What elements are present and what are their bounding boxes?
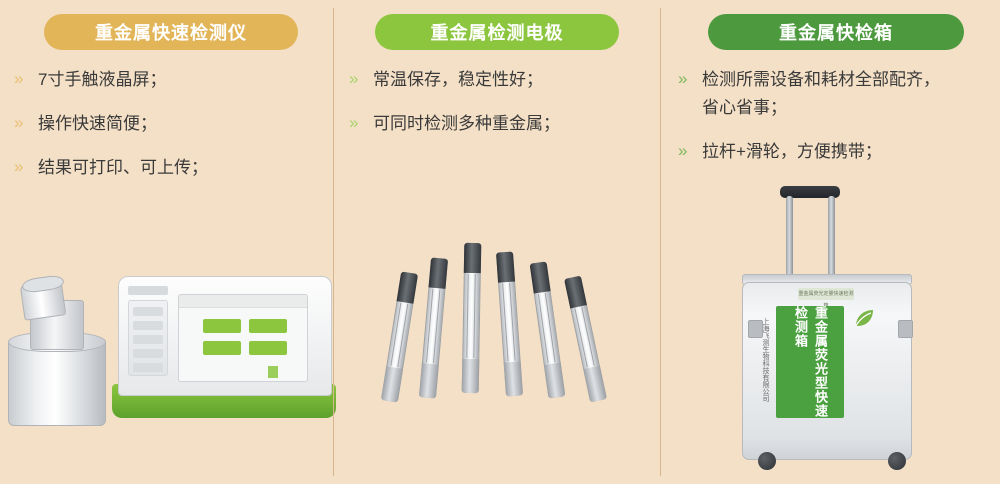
case-handle-bar-left: [786, 196, 793, 286]
chevron-right-icon: »: [349, 110, 367, 136]
panel-case-bullets: » 检测所需设备和耗材全部配齐，省心省事； » 拉杆+滑轮，方便携带；: [660, 66, 1000, 182]
panel-electrode-bullets: » 常温保存，稳定性好； » 可同时检测多种重金属；: [333, 66, 660, 154]
panel-electrode-title: 重金属检测电极: [375, 14, 619, 50]
list-item: » 可同时检测多种重金属；: [349, 110, 660, 138]
chevron-right-icon: »: [14, 110, 32, 136]
chevron-right-icon: »: [14, 154, 32, 180]
list-item: » 检测所需设备和耗材全部配齐，省心省事；: [678, 66, 1000, 122]
list-item: » 7寸手触液晶屏；: [14, 66, 333, 94]
product-feature-board: 重金属快速检测仪 » 7寸手触液晶屏； » 操作快速简便； » 结果可打印、可上…: [0, 0, 1000, 484]
electrode-strip: [564, 276, 607, 403]
bullet-text: 拉杆+滑轮，方便携带；: [702, 138, 882, 166]
chevron-right-icon: »: [14, 66, 32, 92]
electrode-strip: [381, 271, 418, 402]
list-item: » 常温保存，稳定性好；: [349, 66, 660, 94]
panel-analyzer-bullets: » 7寸手触液晶屏； » 操作快速简便； » 结果可打印、可上传；: [0, 66, 333, 198]
bullet-text: 检测所需设备和耗材全部配齐，省心省事；: [702, 66, 950, 122]
brand-logo-icon: [268, 366, 302, 378]
panel-analyzer-title: 重金属快速检测仪: [44, 14, 298, 50]
chevron-right-icon: »: [678, 66, 696, 92]
accessory-cylinder-base: [8, 340, 106, 426]
list-item: » 操作快速简便；: [14, 110, 333, 138]
panel-case-title: 重金属快检箱: [708, 14, 964, 50]
electrode-strip: [462, 243, 482, 393]
bullet-text: 结果可打印、可上传；: [38, 154, 208, 182]
case-wheel-left: [758, 452, 776, 470]
chevron-right-icon: »: [678, 138, 696, 164]
case-latch-left: [748, 320, 763, 338]
list-item: » 结果可打印、可上传；: [14, 154, 333, 182]
brand-leaf-logo-icon: [852, 306, 876, 330]
analyzer-keypad: [128, 300, 168, 376]
electrode-strip: [496, 252, 523, 397]
case-main-label: 重金属荧光型快速检测箱: [776, 306, 844, 418]
analyzer-sample-slot: [128, 286, 168, 295]
analyzer-touchscreen: [178, 294, 308, 382]
bullet-text: 7寸手触液晶屏；: [38, 66, 166, 94]
bullet-text: 操作快速简便；: [38, 110, 157, 138]
case-main-label-text: 重金属荧光型快速检测箱: [790, 306, 830, 418]
electrode-strip: [530, 261, 566, 398]
panel-electrode: 重金属检测电极 » 常温保存，稳定性好； » 可同时检测多种重金属；: [333, 0, 660, 484]
case-latch-right: [898, 320, 913, 338]
chevron-right-icon: »: [349, 66, 367, 92]
case-top-tag: 重金属荧光定量快速检测箱: [798, 288, 854, 300]
electrode-strip: [419, 258, 448, 399]
case-handle-bar-right: [828, 196, 835, 286]
bullet-text: 可同时检测多种重金属；: [373, 110, 560, 138]
panel-analyzer: 重金属快速检测仪 » 7寸手触液晶屏； » 操作快速简便； » 结果可打印、可上…: [0, 0, 333, 484]
list-item: » 拉杆+滑轮，方便携带；: [678, 138, 1000, 166]
bullet-text: 常温保存，稳定性好；: [373, 66, 543, 94]
case-wheel-right: [888, 452, 906, 470]
